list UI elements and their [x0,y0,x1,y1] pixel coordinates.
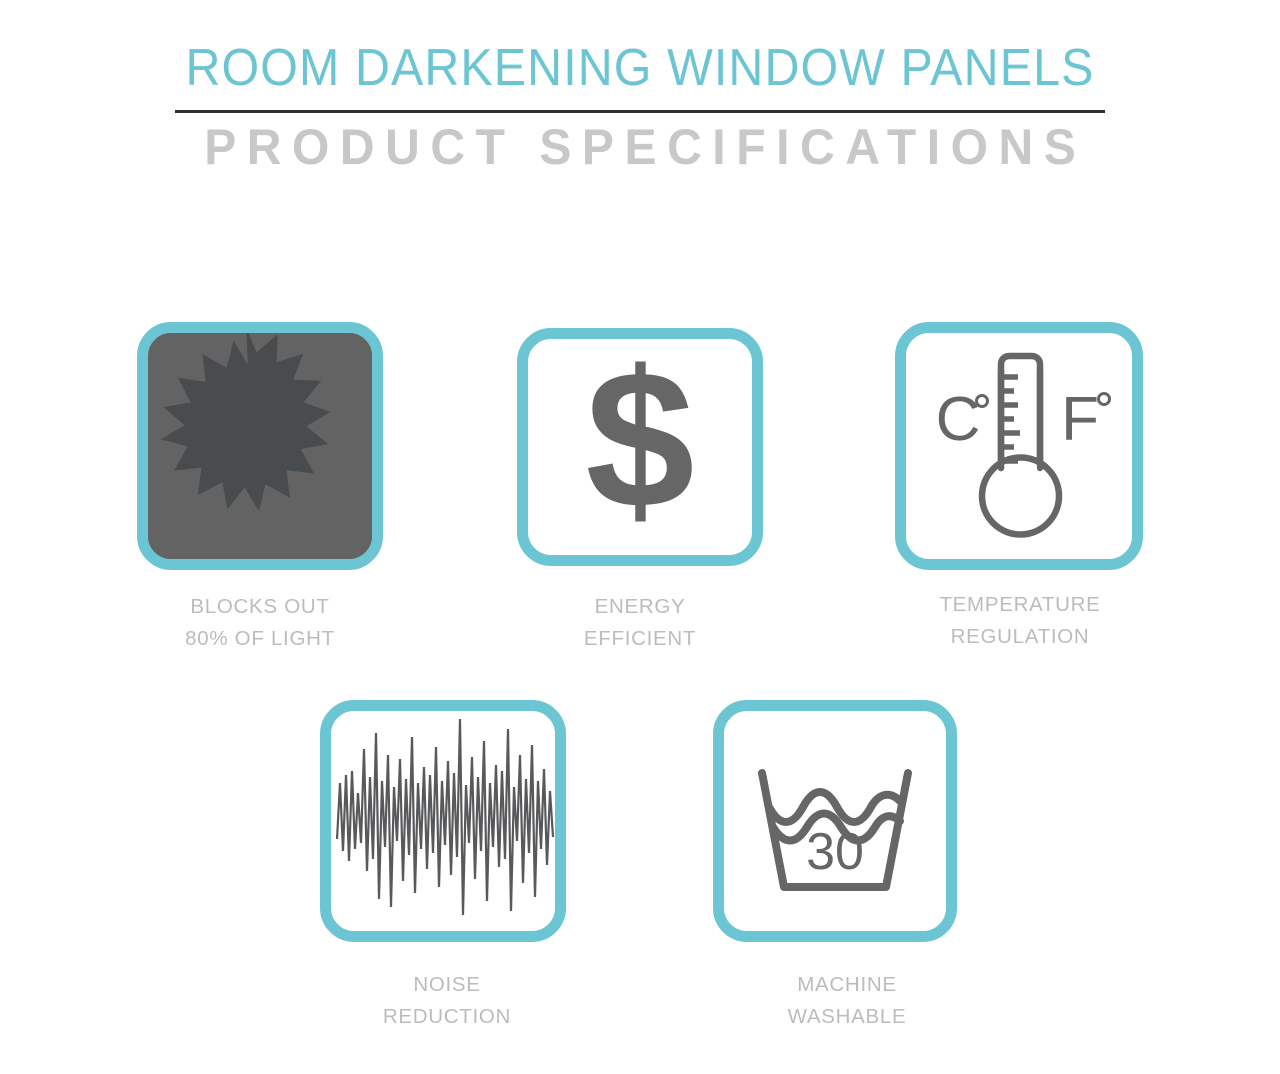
feature-caption-temperature-regulation: TEMPERATURE REGULATION [885,589,1155,653]
thermometer-icon: C F [906,333,1132,559]
product-specifications-infographic: ROOM DARKENING WINDOW PANELS PRODUCT SPE… [0,0,1280,1074]
feature-caption-blocks-light: BLOCKS OUT 80% OF LIGHT [125,591,395,655]
dollar-sign-icon: $ [528,339,752,555]
wash-basin-icon: 30 [724,711,946,931]
sound-waveform-icon [331,711,555,931]
wash-temperature-value: 30 [806,823,864,881]
feature-caption-noise-reduction: NOISE REDUCTION [312,969,582,1033]
feature-tile-machine-washable[interactable]: 30 [713,700,957,942]
feature-caption-energy-efficient: ENERGY EFFICIENT [505,591,775,655]
feature-tile-temperature-regulation[interactable]: C F [895,322,1143,570]
feature-tile-blocks-light[interactable] [137,322,383,570]
feature-caption-machine-washable: MACHINE WASHABLE [712,969,982,1033]
fahrenheit-label: F [1061,385,1099,454]
title-divider [175,110,1105,113]
celsius-label: C [936,385,981,454]
feature-tile-energy-efficient[interactable]: $ [517,328,763,566]
page-title: ROOM DARKENING WINDOW PANELS [45,42,1235,94]
feature-tile-noise-reduction[interactable] [320,700,566,942]
sun-blocked-icon [148,333,372,559]
svg-text:$: $ [585,339,694,549]
page-subtitle: PRODUCT SPECIFICATIONS [26,122,1255,172]
degree-symbol-fahrenheit [1099,394,1110,405]
